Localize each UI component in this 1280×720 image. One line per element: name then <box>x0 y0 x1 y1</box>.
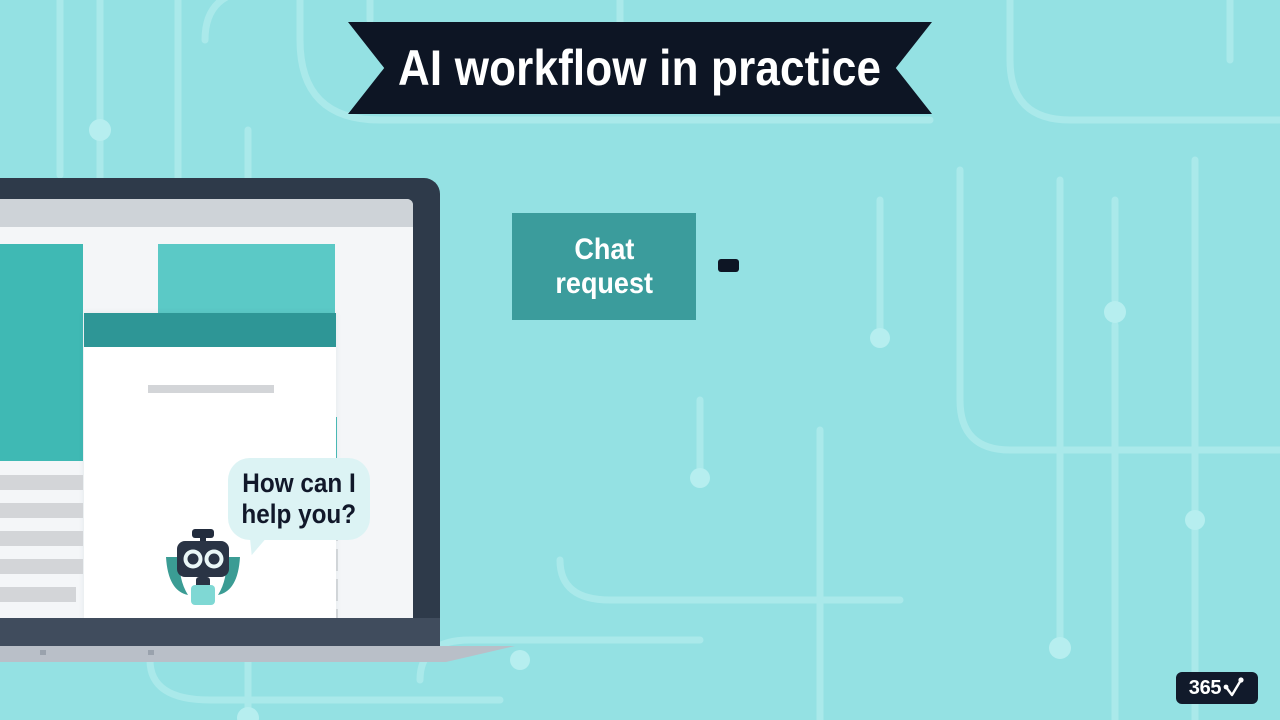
bot-speech-bubble: How can I help you? <box>228 458 370 540</box>
bot-message-line-2: help you? <box>242 499 357 530</box>
brand-logo-text: 365 <box>1189 677 1221 700</box>
content-block-left <box>0 244 83 461</box>
page-title: AI workflow in practice <box>398 39 881 97</box>
chatbot-robot-icon <box>162 521 244 607</box>
flow-node-chat-request[interactable]: Chat request <box>512 213 696 320</box>
slide-canvas: AI workflow in practice <box>0 0 1280 720</box>
flow-connector-arrow-stub <box>718 259 739 272</box>
chat-window-header <box>84 313 336 347</box>
checkmark-datapoint-icon <box>1223 676 1245 700</box>
laptop-base-notch <box>40 650 46 655</box>
placeholder-bar <box>0 559 83 574</box>
laptop-base-bottom <box>0 618 440 646</box>
brand-logo-365: 365 <box>1176 672 1258 704</box>
sidebar-placeholder-bars <box>0 475 88 615</box>
placeholder-bar <box>0 475 83 490</box>
placeholder-bar <box>0 587 76 602</box>
browser-titlebar <box>0 199 413 227</box>
placeholder-bar <box>0 531 83 546</box>
placeholder-bar <box>0 503 83 518</box>
chat-placeholder-line <box>148 385 274 393</box>
laptop-base-wedge <box>0 646 515 662</box>
slide-title-banner: AI workflow in practice <box>348 22 932 114</box>
laptop-base-notch <box>148 650 154 655</box>
bot-message-line-1: How can I <box>242 468 355 499</box>
flow-node-label-line-1: Chat <box>574 233 634 267</box>
flow-node-label-line-2: request <box>555 267 653 301</box>
content-block-top-right <box>158 244 335 319</box>
